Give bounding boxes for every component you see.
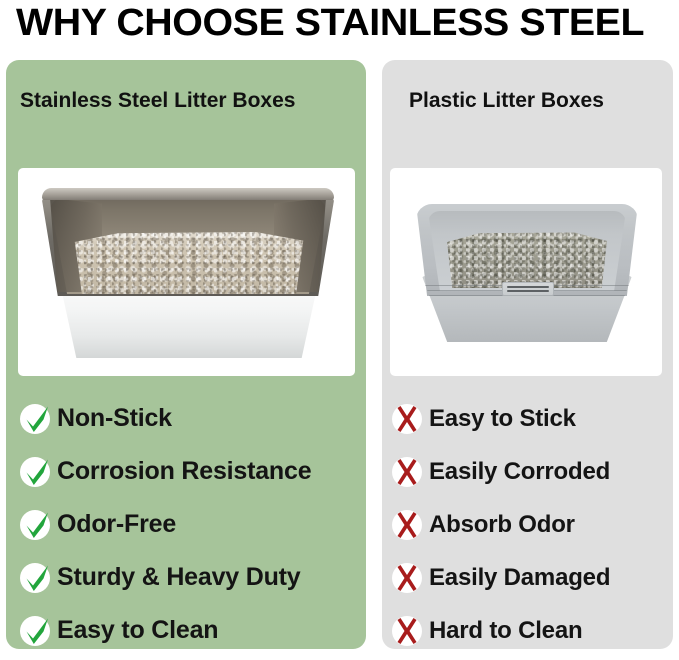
panel-stainless-steel: Stainless Steel Litter Boxes [6,60,366,649]
stainless-steel-litter-box-photo [18,168,355,376]
product-photo-card-plastic [390,168,662,376]
list-item: Odor-Free [6,498,366,551]
feature-label: Absorb Odor [429,511,575,539]
list-item: Sturdy & Heavy Duty [6,551,366,604]
check-icon [18,508,52,542]
plastic-box-litter-fill [442,232,612,288]
feature-label: Odor-Free [57,510,176,539]
list-item: Easily Corroded [382,445,673,498]
check-icon [18,455,52,489]
check-icon [18,561,52,595]
feature-label: Sturdy & Heavy Duty [57,563,301,592]
list-item: Non-Stick [6,392,366,445]
check-icon [18,402,52,436]
cross-icon [390,455,424,489]
list-item: Absorb Odor [382,498,673,551]
feature-label: Easy to Clean [57,616,218,645]
plastic-box-handle-slot [502,282,554,296]
panel-heading-plastic: Plastic Litter Boxes [409,89,604,113]
steel-box-litter-fill [70,232,308,294]
panel-plastic: Plastic Litter Boxes [382,60,673,649]
list-item: Easy to Clean [6,604,366,649]
panel-heading-stainless: Stainless Steel Litter Boxes [20,89,295,113]
list-item: Corrosion Resistance [6,445,366,498]
cross-icon [390,508,424,542]
steel-box-top-lip [42,188,334,200]
feature-label: Hard to Clean [429,617,582,645]
feature-list-plastic: Easy to Stick Easily Corroded [382,392,673,649]
list-item: Easily Damaged [382,551,673,604]
cross-icon [390,561,424,595]
list-item: Easy to Stick [382,392,673,445]
page-title: WHY CHOOSE STAINLESS STEEL [16,0,679,46]
list-item: Hard to Clean [382,604,673,649]
feature-label: Non-Stick [57,404,172,433]
feature-label: Easy to Stick [429,405,576,433]
feature-label: Easily Damaged [429,564,610,592]
check-icon [18,614,52,648]
product-photo-card-stainless [18,168,355,376]
comparison-infographic: WHY CHOOSE STAINLESS STEEL Stainless Ste… [0,0,679,660]
plastic-litter-box-photo [390,168,662,376]
feature-label: Corrosion Resistance [57,457,311,486]
cross-icon [390,614,424,648]
feature-list-stainless: Non-Stick Corrosion Resistance [6,392,366,649]
feature-label: Easily Corroded [429,458,610,486]
cross-icon [390,402,424,436]
